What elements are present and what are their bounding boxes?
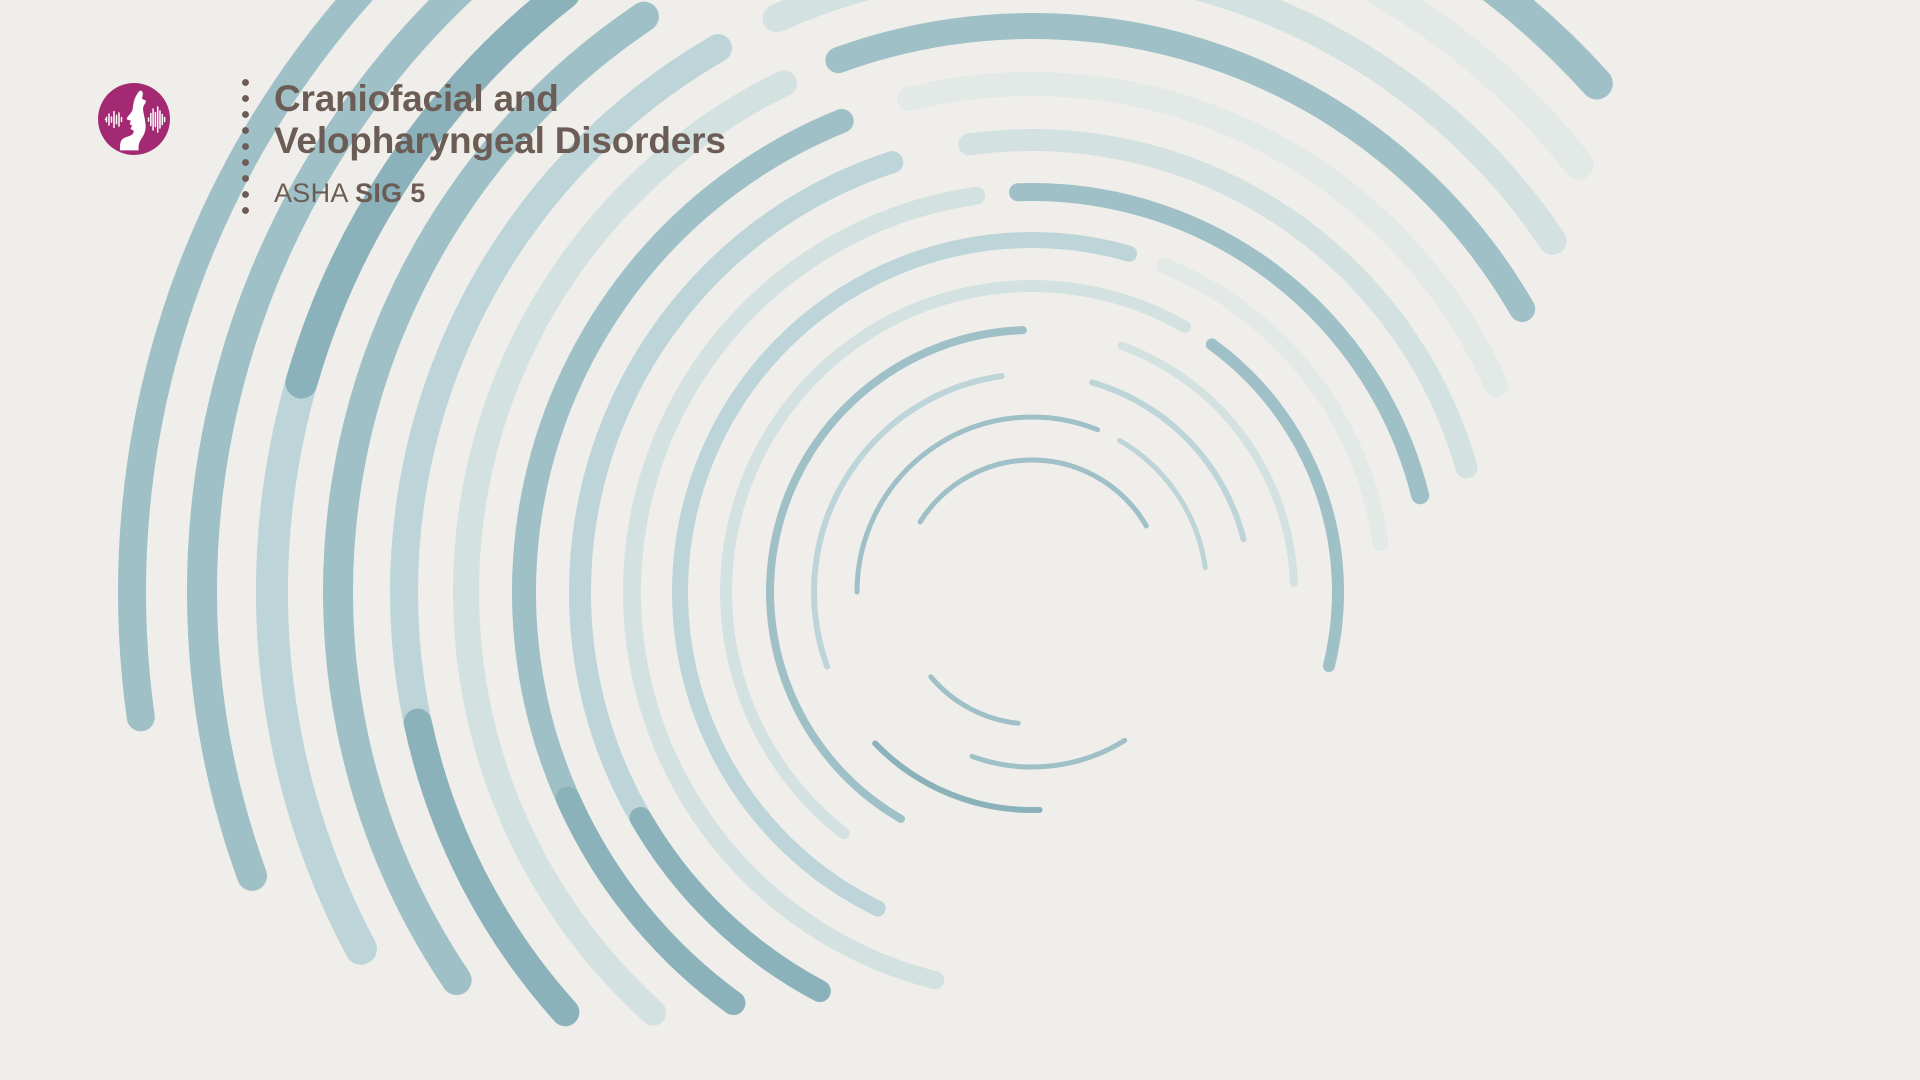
arc-segment — [838, 26, 1522, 309]
arc-segment — [857, 417, 1098, 592]
arc-segment — [1018, 192, 1420, 495]
arc-segment — [770, 330, 1023, 819]
arc-segment — [814, 376, 1002, 666]
arc-segment — [1164, 266, 1381, 543]
arc-segment — [920, 460, 1146, 526]
asha-sig5-logo-icon — [98, 83, 170, 155]
dotted-divider-icon — [242, 79, 249, 215]
arc-segment — [680, 240, 1129, 908]
arc-segment — [466, 83, 784, 1012]
arc-segment — [1212, 344, 1338, 666]
brand-lockup: Craniofacial and Velopharyngeal Disorder… — [98, 78, 726, 215]
arc-segment — [1120, 440, 1206, 567]
brand-text-block: Craniofacial and Velopharyngeal Disorder… — [274, 78, 726, 208]
arc-segment — [706, 0, 1579, 165]
title-card: Craniofacial and Velopharyngeal Disorder… — [0, 0, 1920, 1080]
arc-segment — [875, 743, 1039, 810]
arc-segment — [931, 677, 1018, 723]
arc-segment — [632, 196, 976, 980]
arc-segment — [726, 286, 1185, 833]
arc-segment — [909, 84, 1496, 385]
arc-segment — [418, 723, 566, 1013]
arc-segment — [972, 740, 1125, 767]
arc-segment — [524, 121, 842, 1003]
brand-subtitle-bold: SIG 5 — [355, 178, 426, 208]
arc-segment — [580, 162, 892, 991]
arc-segment — [568, 799, 733, 1003]
arc-segment — [969, 140, 1466, 467]
page-title: Craniofacial and Velopharyngeal Disorder… — [274, 78, 726, 162]
arc-segment — [641, 818, 820, 991]
arc-segment — [607, 0, 1597, 83]
brand-subtitle-regular: ASHA — [274, 178, 355, 208]
arc-segment — [1122, 346, 1294, 583]
arc-segment — [1092, 382, 1243, 539]
brand-subtitle: ASHA SIG 5 — [274, 178, 726, 208]
arc-segment — [777, 0, 1553, 241]
